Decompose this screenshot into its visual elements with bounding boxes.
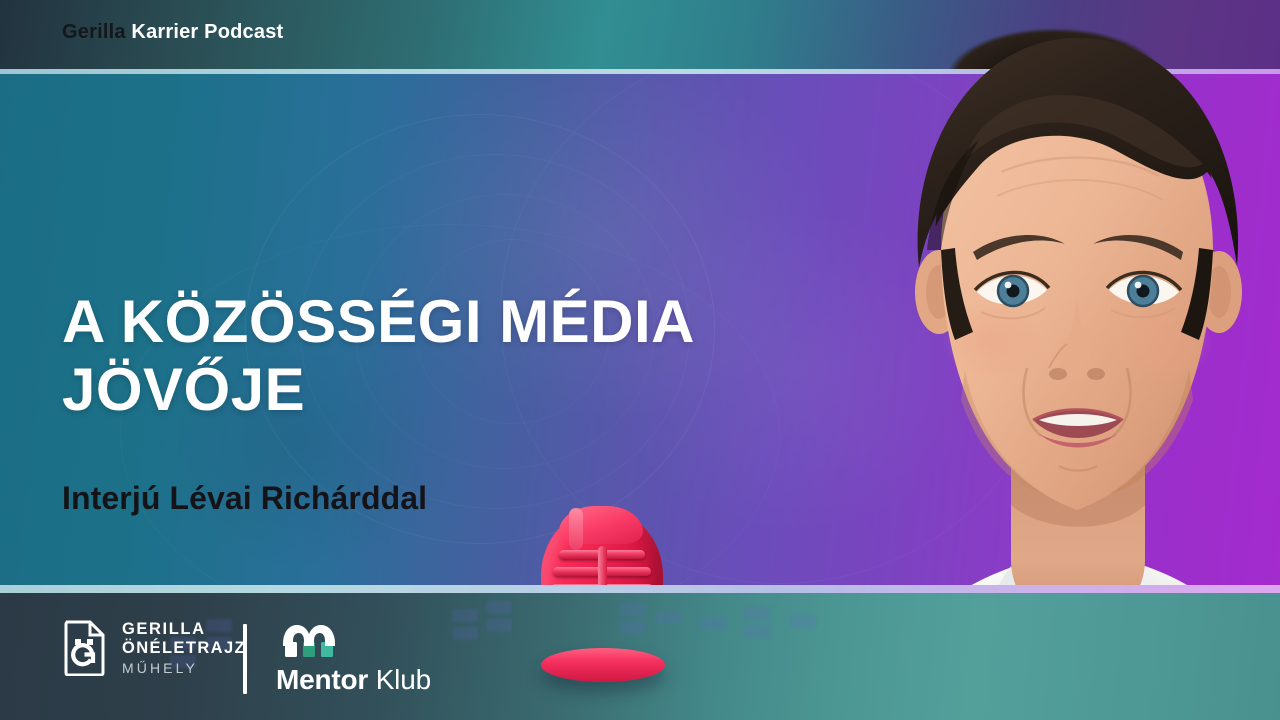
klub-word: Klub bbox=[368, 664, 431, 695]
equalizer-block bbox=[744, 607, 770, 620]
episode-title: A KÖZÖSSÉGI MÉDIA JÖVŐJE bbox=[62, 288, 695, 424]
episode-title-line-1: A KÖZÖSSÉGI MÉDIA bbox=[62, 288, 695, 355]
episode-title-line-2: JÖVŐJE bbox=[62, 356, 695, 424]
equalizer-block bbox=[452, 627, 478, 640]
equalizer-block bbox=[620, 603, 646, 616]
nostril-right bbox=[1087, 368, 1105, 380]
equalizer-block bbox=[486, 601, 512, 614]
equalizer-block bbox=[656, 611, 682, 624]
gerilla-logo-line-3: MŰHELY bbox=[122, 661, 246, 675]
podcast-cover-canvas: Gerilla Karrier Podcast bbox=[0, 0, 1280, 720]
microphone-grille-divider bbox=[598, 546, 607, 585]
equalizer-block bbox=[700, 617, 726, 630]
mentor-klub-mark-icon bbox=[281, 622, 337, 660]
gerilla-document-icon bbox=[62, 619, 107, 676]
microphone-base-footer-overlap bbox=[541, 648, 665, 682]
podcast-brand-title: Gerilla Karrier Podcast bbox=[62, 21, 283, 44]
retro-microphone-illustration bbox=[515, 506, 690, 585]
equalizer-block bbox=[486, 619, 512, 632]
equalizer-block bbox=[790, 615, 816, 628]
equalizer-block bbox=[620, 621, 646, 634]
mentor-word: Mentor bbox=[276, 664, 368, 695]
gerilla-logo-wordmark: GERILLA ÖNÉLETRAJZ MŰHELY bbox=[122, 621, 246, 675]
gerilla-logo-line-2: ÖNÉLETRAJZ bbox=[122, 640, 246, 657]
gerilla-logo-line-1: GERILLA bbox=[122, 621, 246, 638]
divider-bottom bbox=[0, 585, 1280, 593]
episode-subtitle: Interjú Lévai Richárddal bbox=[62, 480, 427, 517]
equalizer-block bbox=[744, 625, 770, 638]
footer-logo-separator bbox=[243, 624, 247, 694]
brand-name-bold: Gerilla bbox=[62, 21, 126, 43]
microphone-cap-strip bbox=[569, 508, 583, 550]
nostril-left bbox=[1049, 368, 1067, 380]
brand-name-rest: Karrier Podcast bbox=[131, 21, 283, 43]
equalizer-block bbox=[452, 609, 478, 622]
mentor-klub-wordmark: Mentor Klub bbox=[276, 664, 431, 696]
gerilla-oneletrajz-logo[interactable]: GERILLA ÖNÉLETRAJZ MŰHELY bbox=[62, 619, 246, 676]
mentor-klub-logo[interactable]: Mentor Klub bbox=[276, 622, 431, 696]
